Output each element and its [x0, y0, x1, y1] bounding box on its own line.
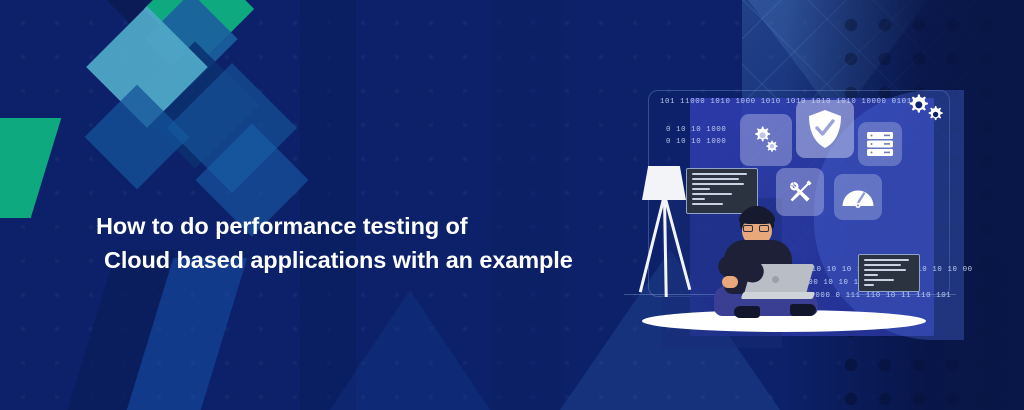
- code-line: [864, 259, 909, 261]
- page-title: How to do performance testing of Cloud b…: [96, 209, 616, 278]
- corner-gears-icon: [908, 93, 950, 132]
- gears-icon: [749, 123, 783, 157]
- tools-icon: [784, 176, 816, 208]
- headline-line-2: Cloud based applications with an example: [104, 243, 616, 278]
- person-hair-front: [739, 210, 775, 224]
- code-line: [692, 203, 723, 205]
- gauge-card: [834, 174, 882, 220]
- laptop-logo: [772, 276, 779, 283]
- code-line: [692, 183, 744, 185]
- laptop-base: [741, 292, 816, 299]
- shield-check-icon: [806, 108, 844, 150]
- person-shoe: [734, 306, 760, 318]
- lamp-shade: [642, 166, 686, 200]
- code-line: [864, 284, 874, 286]
- code-line: [692, 198, 705, 200]
- code-window-lower: [858, 254, 920, 292]
- server-rack-icon: [865, 129, 895, 159]
- code-line: [692, 178, 739, 180]
- binary-text-mid-1: 0 10 10 1000: [666, 126, 726, 134]
- server-card: [858, 122, 902, 166]
- person-hand: [722, 276, 738, 288]
- decor-triangle-bottom: [330, 290, 490, 410]
- binary-text-mid-2: 0 10 10 1000: [666, 138, 726, 146]
- shield-card: [796, 100, 854, 158]
- binary-text-top: 101 11000 1010 1000 1010 1010 1010 1010 …: [660, 98, 912, 106]
- background-column-mid: [492, 0, 562, 410]
- code-line: [864, 279, 894, 281]
- code-line: [692, 173, 747, 175]
- code-line: [864, 269, 906, 271]
- code-line: [692, 193, 732, 195]
- person-glasses: [742, 225, 772, 232]
- seated-developer: [706, 206, 826, 322]
- hero-banner: How to do performance testing of Cloud b…: [0, 0, 1024, 410]
- code-line: [864, 274, 878, 276]
- headline-line-1: How to do performance testing of: [96, 213, 468, 239]
- code-line: [864, 264, 901, 266]
- divider-right: [848, 294, 956, 295]
- person-shoe: [790, 304, 816, 316]
- code-line: [692, 188, 710, 190]
- gears-card: [740, 114, 792, 166]
- illustration: 101 11000 1010 1000 1010 1010 1010 1010 …: [618, 78, 958, 378]
- gauge-icon: [841, 184, 875, 210]
